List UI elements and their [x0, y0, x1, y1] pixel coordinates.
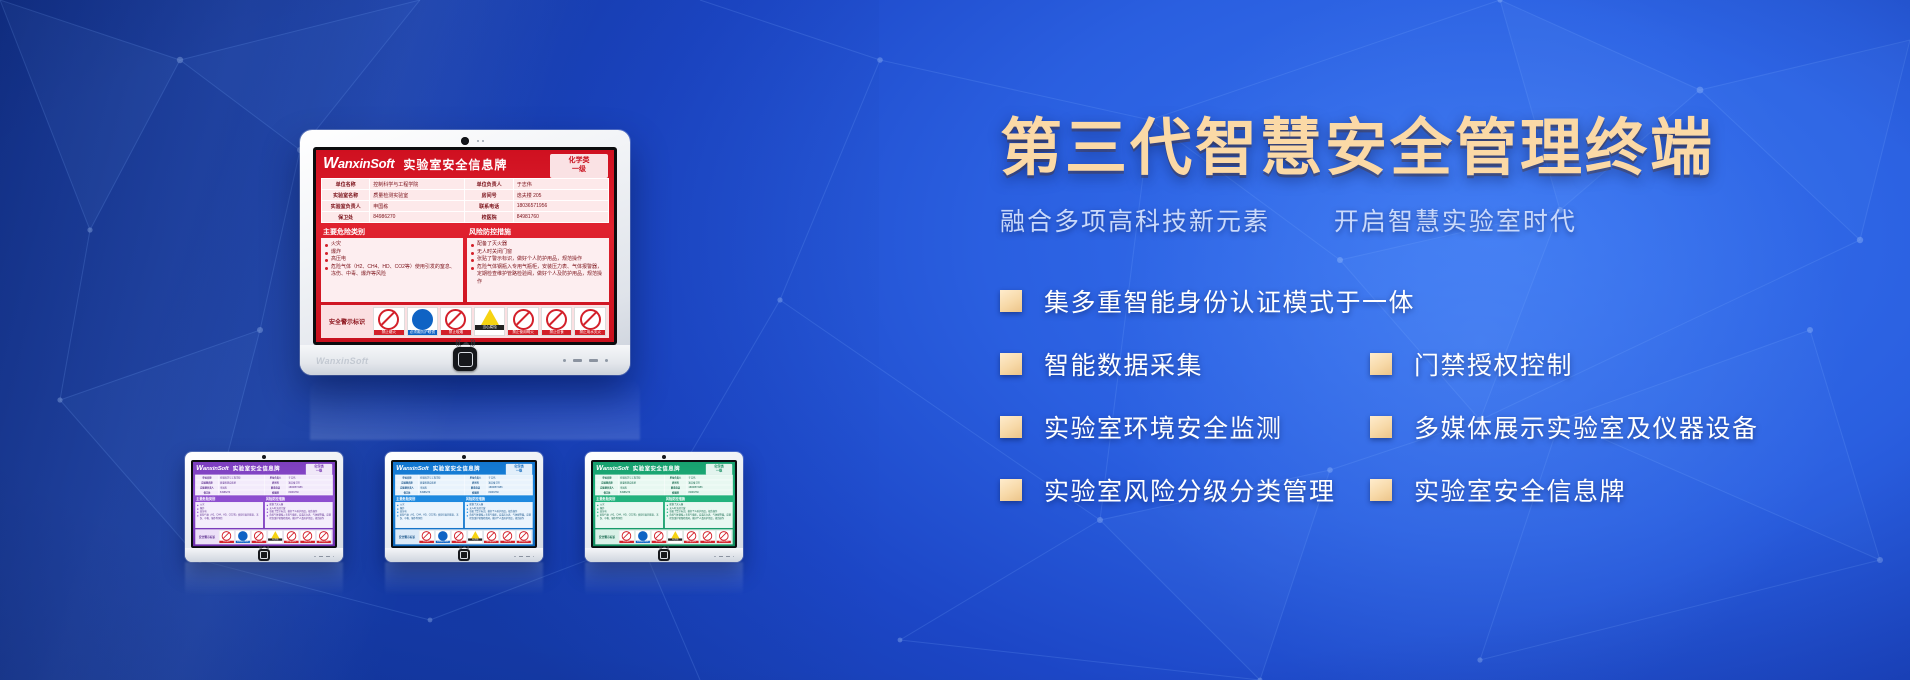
sign-caption: 禁止用水灭火 — [517, 540, 531, 542]
sign-caption: 禁止吸烟 — [252, 540, 266, 542]
cell-key: 单位名称 — [322, 179, 370, 190]
cell-value: 18036571956 — [513, 201, 608, 212]
hazard-section: 主要危险类别 火灾 爆炸 高压电 危险气体（H2、CH4、HD、CO2等）使用引… — [321, 226, 463, 302]
list-item: 高压电 — [325, 256, 459, 264]
thumbnail-tablet-purple[interactable]: WanxinSoft 实验室安全信息牌 化学类 一级 单位名称控制科学与工程学院… — [185, 452, 343, 562]
list-item: 爆炸 — [325, 249, 459, 257]
no-open-flame-icon: 禁止烟火 — [219, 530, 234, 543]
no-mobile-phone-icon: 禁止使用明火 — [507, 307, 539, 336]
board-body: 单位名称控制科学与工程学院单位负责人于志伟 实验室名称质量检测实验室房间号逸夫楼… — [193, 475, 335, 546]
glyph — [287, 531, 297, 541]
cell-value: 84986270 — [370, 212, 465, 223]
corrosive-warning-icon: 当心腐蚀 — [474, 307, 506, 336]
glyph — [222, 531, 232, 541]
thumb-screen[interactable]: WanxinSoft 实验室安全信息牌 化学类 一级 单位名称控制科学与工程学院… — [591, 460, 737, 548]
cell-key: 校医院 — [664, 490, 687, 495]
sign-caption: 禁止饮食 — [700, 540, 714, 542]
cell-key: 单位负责人 — [465, 179, 513, 190]
feature-label: 智能数据采集 — [1044, 346, 1203, 382]
thumb-scale-wrapper: WanxinSoft 实验室安全信息牌 化学类 一级 单位名称控制科学与工程学院… — [193, 462, 335, 546]
bullet-square-icon — [1370, 416, 1392, 438]
list-item: 危险气体钢瓶入专用气瓶柜，安装压力表、气体报警器，定期检查维护管路检验阀，做好个… — [471, 264, 605, 287]
sign-caption: 禁止烟火 — [374, 330, 404, 335]
glyph — [254, 531, 264, 541]
lab-info-table: 单位名称控制科学与工程学院单位负责人于志伟 实验室名称质量检测实验室房间号逸夫楼… — [395, 475, 532, 495]
no-mobile-phone-glyph — [513, 309, 534, 330]
no-smoking-icon: 禁止吸烟 — [651, 530, 666, 543]
cell-key: 实验室名称 — [322, 190, 370, 201]
badge-level: 一级 — [506, 469, 532, 473]
list-item: 危险气体钢瓶入专用气瓶柜，安装压力表、气体报警器，定期检查维护管路检验阀，做好个… — [667, 514, 731, 521]
sign-caption: 禁止吸烟 — [441, 330, 471, 335]
cell-value: 84981760 — [687, 490, 733, 495]
glyph — [271, 531, 279, 538]
board-title: 实验室安全信息牌 — [403, 156, 507, 173]
glyph — [422, 531, 432, 541]
hazard-list: 火灾爆炸高压电危险气体（H2、CH4、HD、CO2等）使用引发的窒息、冻伤、中毒… — [597, 503, 661, 520]
home-button-glyph — [458, 352, 473, 367]
sign-caption: 禁止饮食 — [500, 540, 514, 542]
feature-item-multimedia-display[interactable]: 多媒体展示实验室及仪器设备 — [1370, 409, 1759, 445]
indicator-dot — [333, 556, 335, 558]
sign-caption: 禁止用水灭火 — [317, 540, 331, 542]
safety-signs-label: 安全警示标识 — [397, 535, 418, 539]
cell-key: 实验室负责人 — [322, 201, 370, 212]
hazard-section-body: 火灾爆炸高压电危险气体（H2、CH4、HD、CO2等）使用引发的窒息、冻伤、中毒… — [395, 502, 463, 528]
primary-tablet-device: WanxinSoft 实验室安全信息牌 化学类 一级 单位名称 — [300, 130, 630, 375]
hazard-list: 火灾爆炸高压电危险气体（H2、CH4、HD、CO2等）使用引发的窒息、冻伤、中毒… — [197, 503, 261, 520]
control-section: 风险防控措施 配备了灭火器 无人时关闭门窗 张贴了警示标识，做好个人防护用品，规… — [467, 226, 609, 302]
badge-level: 一级 — [550, 166, 608, 175]
cell-key: 保卫处 — [596, 490, 619, 495]
hazard-section-title: 主要危险类别 — [321, 226, 463, 238]
sensor-dots-icon — [477, 140, 484, 142]
sign-caption: 禁止饮食 — [542, 330, 572, 335]
cell-key: 校医院 — [464, 490, 487, 495]
indicator-dot — [605, 359, 608, 362]
corrosive-warning-icon: 当心腐蚀 — [268, 530, 283, 543]
list-item: 火灾 — [325, 241, 459, 249]
feature-row: 智能数据采集 门禁授权控制 — [1000, 349, 1880, 379]
sign-caption: 当心腐蚀 — [475, 325, 505, 330]
no-mobile-phone-icon: 禁止使用明火 — [284, 530, 299, 543]
cell-value: 于志伟 — [513, 179, 608, 190]
badge-level: 一级 — [306, 469, 332, 473]
list-item: 无人时关闭门窗 — [471, 249, 605, 257]
indicator-dot — [563, 359, 566, 362]
sign-caption: 必须戴防护眼镜 — [436, 540, 450, 542]
board-body: 单位名称控制科学与工程学院单位负责人于志伟 实验室名称质量检测实验室房间号逸夫楼… — [393, 475, 535, 546]
thumb-reflection — [585, 562, 743, 596]
lab-info-table: 单位名称 控制科学与工程学院 单位负责人 于志伟 实验室名称 质量检测实验室 房… — [321, 178, 609, 223]
list-item: 危险气体钢瓶入专用气瓶柜，安装压力表、气体报警器，定期检查维护管路检验阀，做好个… — [267, 514, 331, 521]
sign-caption: 禁止用水灭火 — [575, 330, 605, 335]
indicator-bar — [726, 556, 730, 558]
no-smoking-glyph — [445, 309, 466, 330]
sign-caption: 禁止吸烟 — [452, 540, 466, 542]
indicator-dot — [314, 556, 316, 558]
cell-key: 房间号 — [465, 190, 513, 201]
bullet-square-icon — [1000, 290, 1022, 312]
no-mobile-phone-icon: 禁止使用明火 — [484, 530, 499, 543]
home-button-glyph — [260, 551, 268, 559]
board-title: 实验室安全信息牌 — [633, 465, 680, 473]
sections-wrapper: 主要危险类别 火灾爆炸高压电危险气体（H2、CH4、HD、CO2等）使用引发的窒… — [595, 497, 732, 528]
indicator-dot — [533, 556, 535, 558]
wear-eye-protection-icon: 必须戴防护眼镜 — [435, 530, 450, 543]
bullet-square-icon — [1000, 353, 1022, 375]
sign-caption: 禁止吸烟 — [652, 540, 666, 542]
indicator-bar — [319, 556, 323, 558]
no-water-glyph — [580, 309, 601, 330]
feature-item-data-collection[interactable]: 智能数据采集 — [1000, 346, 1370, 382]
front-camera-icon — [662, 455, 666, 459]
no-water-extinguish-icon: 禁止用水灭火 — [516, 530, 531, 543]
logo-w-letter: W — [196, 464, 203, 472]
glyph — [654, 531, 664, 541]
feature-item-info-board[interactable]: 实验室安全信息牌 — [1370, 472, 1626, 508]
no-mobile-phone-icon: 禁止使用明火 — [684, 530, 699, 543]
board-header: WanxinSoft 实验室安全信息牌 化学类 一级 — [193, 462, 335, 475]
thumb-screen[interactable]: WanxinSoft 实验室安全信息牌 化学类 一级 单位名称控制科学与工程学院… — [391, 460, 537, 548]
bullet-square-icon — [1370, 479, 1392, 501]
sign-caption: 禁止使用明火 — [484, 540, 498, 542]
hero-text-column: 第三代智慧安全管理终端 融合多项高科技新元素 开启智慧实验室时代 集多重智能身份… — [1000, 118, 1880, 538]
board-body: 单位名称控制科学与工程学院单位负责人于志伟 实验室名称质量检测实验室房间号逸夫楼… — [593, 475, 735, 546]
no-water-extinguish-icon: 禁止用水灭火 — [574, 307, 606, 336]
control-list: 配备了灭火器无人时关闭门窗张贴了警示标识，做好个人防护用品，规范操作危险气体钢瓶… — [467, 503, 531, 520]
thumbnail-tablet-blue[interactable]: WanxinSoft 实验室安全信息牌 化学类 一级 单位名称控制科学与工程学院… — [385, 452, 543, 562]
page-title: 第三代智慧安全管理终端 — [1000, 118, 1880, 180]
glyph — [487, 531, 497, 541]
cell-value: 质量检测实验室 — [370, 190, 465, 201]
subtitle-left: 融合多项高科技新元素 — [1000, 208, 1270, 236]
thumb-scale-wrapper: WanxinSoft 实验室安全信息牌 化学类 一级 单位名称控制科学与工程学院… — [593, 462, 735, 546]
wear-eye-protection-icon: 必须戴防护眼镜 — [235, 530, 250, 543]
tablet-body: WanxinSoft 实验室安全信息牌 化学类 一级 单位名称 — [300, 130, 630, 375]
subtitle-right: 开启智慧实验室时代 — [1334, 208, 1577, 236]
hazard-section: 主要危险类别 火灾爆炸高压电危险气体（H2、CH4、HD、CO2等）使用引发的窒… — [595, 497, 663, 528]
indicator-bar — [526, 556, 530, 558]
safety-signs-list: 禁止烟火 必须戴防护眼镜 禁止吸烟 当心腐蚀 禁止使用明火 禁止饮食 禁止用水灭… — [619, 530, 731, 543]
front-camera-icon — [262, 455, 266, 459]
sign-caption: 当心腐蚀 — [268, 538, 282, 540]
glyph — [471, 531, 479, 538]
table-row: 保卫处84986270校医院84981760 — [196, 490, 333, 495]
feature-list: 集多重智能身份认证模式于一体 智能数据采集 门禁授权控制 实验室环境安全监测 — [1000, 286, 1880, 505]
bullet-square-icon — [1000, 479, 1022, 501]
thumb-screen[interactable]: WanxinSoft 实验室安全信息牌 化学类 一级 单位名称控制科学与工程学院… — [191, 460, 337, 548]
glyph — [719, 531, 729, 541]
control-section-body: 配备了灭火器无人时关闭门窗张贴了警示标识，做好个人防护用品，规范操作危险气体钢瓶… — [465, 502, 533, 528]
board-header: WanxinSoft 实验室安全信息牌 化学类 一级 — [316, 150, 614, 178]
sign-caption: 禁止使用明火 — [284, 540, 298, 542]
table-row: 单位名称 控制科学与工程学院 单位负责人 于志伟 — [322, 179, 609, 190]
sections-wrapper: 主要危险类别 火灾 爆炸 高压电 危险气体（H2、CH4、HD、CO2等）使用引… — [321, 226, 609, 302]
status-indicator-dots — [714, 556, 734, 558]
feature-row: 实验室风险分级分类管理 实验室安全信息牌 — [1000, 475, 1880, 505]
no-eating-drinking-icon: 禁止饮食 — [541, 307, 573, 336]
hazard-section-body: 火灾爆炸高压电危险气体（H2、CH4、HD、CO2等）使用引发的窒息、冻伤、中毒… — [195, 502, 263, 528]
hazard-section-body: 火灾 爆炸 高压电 危险气体（H2、CH4、HD、CO2等）使用引发的窒息、冻伤… — [321, 238, 463, 302]
feature-item-environment-monitor[interactable]: 实验室环境安全监测 — [1000, 409, 1370, 445]
cell-value: 84986270 — [418, 490, 464, 495]
sign-caption: 禁止烟火 — [419, 540, 433, 542]
thumb-body: WanxinSoft 实验室安全信息牌 化学类 一级 单位名称控制科学与工程学院… — [585, 452, 743, 562]
list-item: 危险气体钢瓶入专用气瓶柜，安装压力表、气体报警器，定期检查维护管路检验阀，做好个… — [467, 514, 531, 521]
hazard-class-badge: 化学类 一级 — [550, 154, 608, 178]
board-title: 实验室安全信息牌 — [233, 465, 280, 473]
sign-caption: 禁止烟火 — [619, 540, 633, 542]
hazard-class-badge: 化学类 一级 — [306, 464, 332, 475]
sections-wrapper: 主要危险类别 火灾爆炸高压电危险气体（H2、CH4、HD、CO2等）使用引发的窒… — [395, 497, 532, 528]
cell-value: 84986270 — [618, 490, 664, 495]
feature-row: 实验室环境安全监测 多媒体展示实验室及仪器设备 — [1000, 412, 1880, 442]
feature-item-risk-classification[interactable]: 实验室风险分级分类管理 — [1000, 472, 1370, 508]
lab-info-table: 单位名称控制科学与工程学院单位负责人于志伟 实验室名称质量检测实验室房间号逸夫楼… — [595, 475, 732, 495]
cell-value: 控制科学与工程学院 — [370, 179, 465, 190]
logo-rest: anxinSoft — [603, 465, 629, 472]
sign-caption: 禁止烟火 — [219, 540, 233, 542]
thumb-scale-wrapper: WanxinSoft 实验室安全信息牌 化学类 一级 单位名称控制科学与工程学院… — [393, 462, 535, 546]
hazard-list: 火灾爆炸高压电危险气体（H2、CH4、HD、CO2等）使用引发的窒息、冻伤、中毒… — [397, 503, 461, 520]
safety-signs-row: 安全警示标识 禁止烟火 必须戴防护眼镜 禁止吸烟 当心腐蚀 禁止使用明火 禁止饮… — [195, 529, 332, 544]
hazard-list: 火灾 爆炸 高压电 危险气体（H2、CH4、HD、CO2等）使用引发的窒息、冻伤… — [325, 241, 459, 279]
glyph — [519, 531, 529, 541]
bullet-square-icon — [1370, 353, 1392, 375]
lab-safety-info-board: WanxinSoft 实验室安全信息牌 化学类 一级 单位名称 — [316, 150, 614, 342]
hazard-section: 主要危险类别 火灾爆炸高压电危险气体（H2、CH4、HD、CO2等）使用引发的窒… — [395, 497, 463, 528]
glyph — [687, 531, 697, 541]
tablet-screen[interactable]: WanxinSoft 实验室安全信息牌 化学类 一级 单位名称 — [313, 147, 617, 345]
home-fingerprint-button[interactable] — [453, 347, 477, 371]
logo-w-letter: W — [596, 464, 603, 472]
cell-value: 84981760 — [287, 490, 333, 495]
glyph — [438, 531, 448, 541]
badge-category: 化学类 — [550, 157, 608, 166]
lab-safety-info-board-purple: WanxinSoft 实验室安全信息牌 化学类 一级 单位名称控制科学与工程学院… — [193, 462, 335, 546]
table-row: 实验室负责人 申国栋 联系电话 18036571956 — [322, 201, 609, 212]
cell-key: 联系电话 — [465, 201, 513, 212]
logo-rest: anxinSoft — [338, 156, 395, 171]
sign-caption: 当心腐蚀 — [668, 538, 682, 540]
wear-eye-protection-icon: 必须戴防护眼镜 — [635, 530, 650, 543]
thumb-reflection — [185, 562, 343, 596]
sign-caption: 当心腐蚀 — [468, 538, 482, 540]
hazard-class-badge: 化学类 一级 — [506, 464, 532, 475]
glyph — [622, 531, 632, 541]
glyph — [638, 531, 648, 541]
home-fingerprint-button[interactable] — [258, 549, 270, 561]
cell-key: 保卫处 — [322, 212, 370, 223]
no-water-extinguish-icon: 禁止用水灭火 — [316, 530, 331, 543]
home-fingerprint-button[interactable] — [658, 549, 670, 561]
cell-key: 保卫处 — [396, 490, 419, 495]
no-eating-drinking-icon: 禁止饮食 — [300, 530, 315, 543]
control-section: 风险防控措施 配备了灭火器无人时关闭门窗张贴了警示标识，做好个人防护用品，规范操… — [265, 497, 333, 528]
glyph — [454, 531, 464, 541]
home-fingerprint-button[interactable] — [458, 549, 470, 561]
indicator-bar — [519, 556, 523, 558]
feature-label: 实验室安全信息牌 — [1414, 472, 1626, 508]
control-section-body: 配备了灭火器无人时关闭门窗张贴了警示标识，做好个人防护用品，规范操作危险气体钢瓶… — [265, 502, 333, 528]
safety-signs-label: 安全警示标识 — [324, 317, 370, 326]
indicator-bar — [589, 359, 598, 362]
no-open-flame-icon: 禁止烟火 — [419, 530, 434, 543]
lab-info-table-body: 单位名称 控制科学与工程学院 单位负责人 于志伟 实验室名称 质量检测实验室 房… — [322, 179, 609, 223]
control-section: 风险防控措施 配备了灭火器无人时关闭门窗张贴了警示标识，做好个人防护用品，规范操… — [465, 497, 533, 528]
logo-w-letter: W — [396, 464, 403, 472]
wanxinsoft-logo: WanxinSoft — [196, 464, 228, 472]
sign-caption: 必须戴防护眼镜 — [236, 540, 250, 542]
cell-value: 申国栋 — [370, 201, 465, 212]
indicator-dot — [514, 556, 516, 558]
eye-protection-glyph — [412, 309, 433, 330]
no-open-flame-glyph — [378, 309, 399, 330]
corrosive-warning-icon: 当心腐蚀 — [668, 530, 683, 543]
glyph — [319, 531, 329, 541]
cell-value: 84981760 — [487, 490, 533, 495]
table-row: 保卫处84986270校医院84981760 — [596, 490, 733, 495]
safety-signs-label: 安全警示标识 — [197, 535, 218, 539]
no-smoking-icon: 禁止吸烟 — [251, 530, 266, 543]
front-camera-icon — [462, 455, 466, 459]
logo-w-letter: W — [323, 155, 338, 172]
device-brand-label: WanxinSoft — [316, 356, 368, 366]
corrosive-warning-glyph — [481, 309, 499, 325]
indicator-bar — [326, 556, 330, 558]
no-water-extinguish-icon: 禁止用水灭火 — [716, 530, 731, 543]
corrosive-warning-icon: 当心腐蚀 — [468, 530, 483, 543]
wanxinsoft-logo: WanxinSoft — [396, 464, 428, 472]
feature-label: 门禁授权控制 — [1414, 346, 1573, 382]
safety-signs-label: 安全警示标识 — [597, 535, 618, 539]
control-section-title: 风险防控措施 — [467, 226, 609, 238]
cell-value: 逸夫楼 205 — [513, 190, 608, 201]
wanxinsoft-logo: WanxinSoft — [323, 155, 394, 173]
lab-safety-info-board-blue: WanxinSoft 实验室安全信息牌 化学类 一级 单位名称控制科学与工程学院… — [393, 462, 535, 546]
lab-safety-info-board-green: WanxinSoft 实验室安全信息牌 化学类 一级 单位名称控制科学与工程学院… — [593, 462, 735, 546]
control-list: 配备了灭火器 无人时关闭门窗 张贴了警示标识，做好个人防护用品，规范操作 危险气… — [471, 241, 605, 286]
logo-rest: anxinSoft — [203, 465, 229, 472]
no-open-flame-icon: 禁止烟火 — [619, 530, 634, 543]
home-button-glyph — [660, 551, 668, 559]
cell-value: 84986270 — [218, 490, 264, 495]
feature-label: 多媒体展示实验室及仪器设备 — [1414, 409, 1759, 445]
sign-caption: 必须戴防护眼镜 — [408, 330, 438, 335]
status-indicator-dots — [563, 359, 608, 362]
hazard-section-body: 火灾爆炸高压电危险气体（H2、CH4、HD、CO2等）使用引发的窒息、冻伤、中毒… — [595, 502, 663, 528]
no-eating-drinking-icon: 禁止饮食 — [500, 530, 515, 543]
board-title: 实验室安全信息牌 — [433, 465, 480, 473]
table-row: 保卫处 84986270 校医院 84981760 — [322, 212, 609, 223]
glyph — [238, 531, 248, 541]
big-tablet-reflection — [310, 378, 640, 440]
no-smoking-icon: 禁止吸烟 — [440, 307, 472, 336]
list-item: 配备了灭火器 — [471, 241, 605, 249]
feature-item-identity-auth[interactable]: 集多重智能身份认证模式于一体 — [1000, 283, 1370, 319]
control-section-body: 配备了灭火器无人时关闭门窗张贴了警示标识，做好个人防护用品，规范操作危险气体钢瓶… — [665, 502, 733, 528]
wanxinsoft-logo: WanxinSoft — [596, 464, 628, 472]
banner-stage: WanxinSoft 实验室安全信息牌 化学类 一级 单位名称 — [0, 0, 1910, 680]
safety-signs-list: 禁止烟火 必须戴防护眼镜 禁止吸烟 当心腐蚀 禁止使用明火 禁止饮食 禁止用水灭… — [219, 530, 331, 543]
indicator-bar — [573, 359, 582, 362]
feature-item-access-control[interactable]: 门禁授权控制 — [1370, 346, 1573, 382]
control-list: 配备了灭火器无人时关闭门窗张贴了警示标识，做好个人防护用品，规范操作危险气体钢瓶… — [267, 503, 331, 520]
list-item: 张贴了警示标识，做好个人防护用品，规范操作 — [471, 256, 605, 264]
no-eating-drinking-icon: 禁止饮食 — [700, 530, 715, 543]
list-item: 危险气体（H2、CH4、HD、CO2等）使用引发的窒息、冻伤、中毒、爆炸等风险 — [597, 514, 661, 521]
feature-label: 实验室环境安全监测 — [1044, 409, 1283, 445]
feature-row: 集多重智能身份认证模式于一体 — [1000, 286, 1880, 316]
glyph — [671, 531, 679, 538]
table-row: 实验室名称 质量检测实验室 房间号 逸夫楼 205 — [322, 190, 609, 201]
list-item: 危险气体（H2、CH4、HD、CO2等）使用引发的窒息、冻伤、中毒、爆炸等风险 — [397, 514, 461, 521]
front-camera-icon — [461, 137, 469, 145]
lab-info-table: 单位名称控制科学与工程学院单位负责人于志伟 实验室名称质量检测实验室房间号逸夫楼… — [195, 475, 332, 495]
cell-key: 校医院 — [465, 212, 513, 223]
glyph — [703, 531, 713, 541]
indicator-dot — [733, 556, 735, 558]
cell-key: 保卫处 — [196, 490, 219, 495]
safety-signs-row: 安全警示标识 禁止烟火 必须戴防护眼镜 禁止吸烟 当心腐蚀 禁止使用明火 禁止饮… — [321, 305, 609, 338]
control-list: 配备了灭火器无人时关闭门窗张贴了警示标识，做好个人防护用品，规范操作危险气体钢瓶… — [667, 503, 731, 520]
glyph — [503, 531, 513, 541]
control-section-body: 配备了灭火器 无人时关闭门窗 张贴了警示标识，做好个人防护用品，规范操作 危险气… — [467, 238, 609, 302]
hazard-section: 主要危险类别 火灾爆炸高压电危险气体（H2、CH4、HD、CO2等）使用引发的窒… — [195, 497, 263, 528]
sign-caption: 禁止使用明火 — [508, 330, 538, 335]
cell-key: 校医院 — [264, 490, 287, 495]
sign-caption: 禁止使用明火 — [684, 540, 698, 542]
sign-caption: 必须戴防护眼镜 — [636, 540, 650, 542]
no-smoking-icon: 禁止吸烟 — [451, 530, 466, 543]
feature-label: 集多重智能身份认证模式于一体 — [1044, 283, 1415, 319]
feature-label: 实验室风险分级分类管理 — [1044, 472, 1336, 508]
list-item: 危险气体（H2、CH4、HD、CO2等）使用引发的窒息、冻伤、中毒、爆炸等风险 — [197, 514, 261, 521]
bullet-square-icon — [1000, 416, 1022, 438]
hazard-class-badge: 化学类 一级 — [706, 464, 732, 475]
no-open-flame-icon: 禁止烟火 — [373, 307, 405, 336]
cell-value: 84981760 — [513, 212, 608, 223]
home-button-glyph — [460, 551, 468, 559]
nfc-reader-icon: ((( ☁ ))) — [455, 338, 474, 347]
logo-rest: anxinSoft — [403, 465, 429, 472]
thumbnail-tablet-green[interactable]: WanxinSoft 实验室安全信息牌 化学类 一级 单位名称控制科学与工程学院… — [585, 452, 743, 562]
safety-signs-row: 安全警示标识 禁止烟火 必须戴防护眼镜 禁止吸烟 当心腐蚀 禁止使用明火 禁止饮… — [395, 529, 532, 544]
no-eating-glyph — [546, 309, 567, 330]
sign-caption: 禁止饮食 — [300, 540, 314, 542]
status-indicator-dots — [514, 556, 534, 558]
table-row: 保卫处84986270校医院84981760 — [396, 490, 533, 495]
status-indicator-dots — [314, 556, 334, 558]
safety-signs-list: 禁止烟火 必须戴防护眼镜 禁止吸烟 当心腐蚀 禁止使用明火 禁止饮食 禁止用水灭… — [373, 307, 606, 336]
board-header: WanxinSoft 实验室安全信息牌 化学类 一级 — [593, 462, 735, 475]
wear-eye-protection-icon: 必须戴防护眼镜 — [407, 307, 439, 336]
indicator-dot — [714, 556, 716, 558]
control-section: 风险防控措施 配备了灭火器无人时关闭门窗张贴了警示标识，做好个人防护用品，规范操… — [665, 497, 733, 528]
list-item: 危险气体（H2、CH4、HD、CO2等）使用引发的窒息、冻伤、中毒、爆炸等风险 — [325, 264, 459, 279]
sign-caption: 禁止用水灭火 — [717, 540, 731, 542]
glyph — [303, 531, 313, 541]
sections-wrapper: 主要危险类别 火灾爆炸高压电危险气体（H2、CH4、HD、CO2等）使用引发的窒… — [195, 497, 332, 528]
badge-level: 一级 — [706, 469, 732, 473]
thumb-body: WanxinSoft 实验室安全信息牌 化学类 一级 单位名称控制科学与工程学院… — [185, 452, 343, 562]
board-body: 单位名称 控制科学与工程学院 单位负责人 于志伟 实验室名称 质量检测实验室 房… — [316, 178, 614, 342]
page-subtitle: 融合多项高科技新元素 开启智慧实验室时代 — [1000, 202, 1880, 238]
safety-signs-row: 安全警示标识 禁止烟火 必须戴防护眼镜 禁止吸烟 当心腐蚀 禁止使用明火 禁止饮… — [595, 529, 732, 544]
board-header: WanxinSoft 实验室安全信息牌 化学类 一级 — [393, 462, 535, 475]
thumb-body: WanxinSoft 实验室安全信息牌 化学类 一级 单位名称控制科学与工程学院… — [385, 452, 543, 562]
